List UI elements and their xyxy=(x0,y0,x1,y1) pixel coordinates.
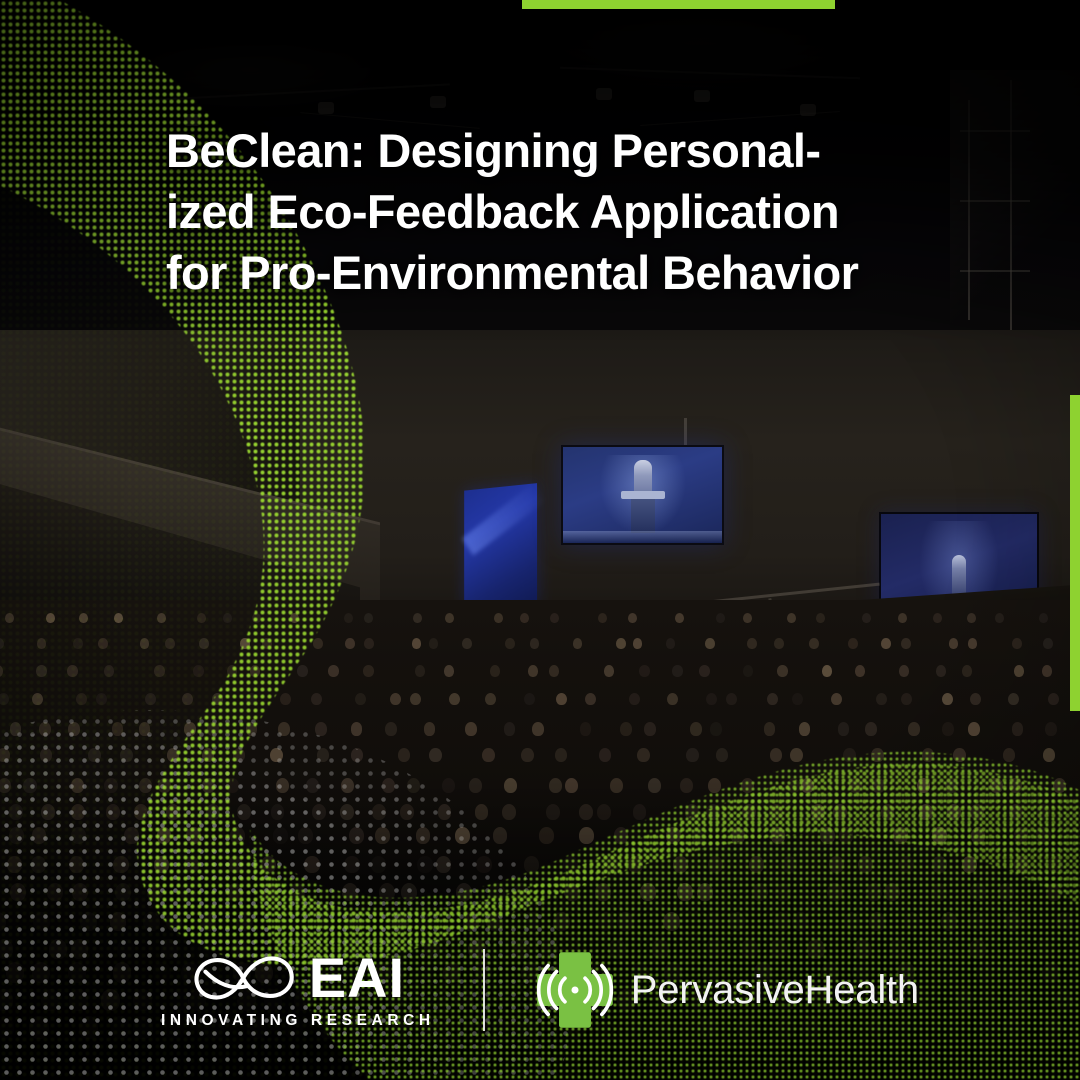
eai-infinity-mark xyxy=(191,950,299,1006)
green-cross-signal-icon xyxy=(533,948,617,1032)
pervasive-health-logo: PervasiveHealth xyxy=(485,948,919,1032)
title-line-1: BeClean: Designing Personal- xyxy=(166,120,956,181)
eai-wordmark: EAI xyxy=(309,950,405,1006)
title-line-3: for Pro-Environmental Behavior xyxy=(166,242,956,303)
poster-canvas: BeClean: Designing Personal- ized Eco-Fe… xyxy=(0,0,1080,1080)
right-green-accent-bar xyxy=(1070,395,1080,711)
title-line-2: ized Eco-Feedback Application xyxy=(166,181,956,242)
pervasive-health-wordmark: PervasiveHealth xyxy=(631,968,919,1013)
top-green-accent-bar xyxy=(522,0,835,9)
eai-logo: EAI INNOVATING RESEARCH xyxy=(161,950,483,1030)
logo-bar: EAI INNOVATING RESEARCH PervasiveHealth xyxy=(0,948,1080,1032)
page-title: BeClean: Designing Personal- ized Eco-Fe… xyxy=(166,120,956,303)
eai-tagline: INNOVATING RESEARCH xyxy=(161,1012,435,1030)
